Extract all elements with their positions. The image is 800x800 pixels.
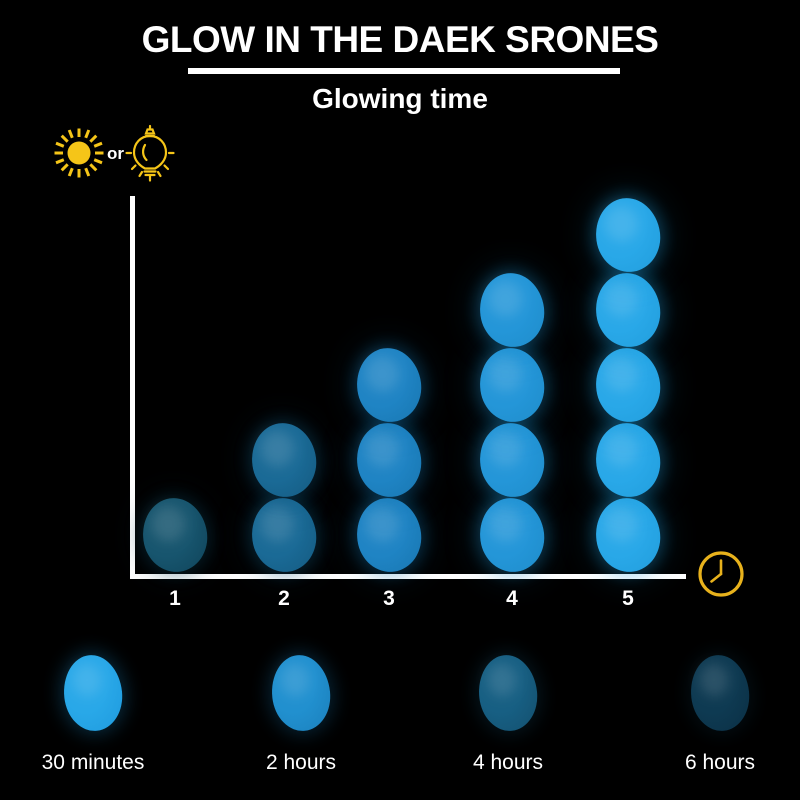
y-axis-line [130, 196, 135, 578]
legend-stone-swatch [687, 652, 753, 734]
legend-stone-swatch [475, 652, 541, 734]
glow-stone [475, 344, 549, 426]
glow-stone [591, 269, 665, 351]
x-tick-label-4: 4 [492, 586, 532, 612]
glow-stone [475, 494, 549, 576]
legend-stone-swatch [268, 652, 334, 734]
glow-stone [591, 344, 665, 426]
glow-stone [352, 494, 426, 576]
glow-stone [138, 494, 212, 576]
legend-stone-swatch [60, 652, 126, 734]
glow-stone [475, 419, 549, 501]
infographic-canvas: GLOW IN THE DAEK SRONES Glowing time [0, 0, 800, 800]
legend-item: 2 hours [201, 655, 401, 795]
legend-label: 30 minutes [0, 750, 193, 776]
clock-icon [695, 548, 747, 600]
legend-label: 2 hours [201, 750, 401, 776]
page-title: GLOW IN THE DAEK SRONES [0, 18, 800, 62]
legend-label: 4 hours [408, 750, 608, 776]
glow-stone [352, 344, 426, 426]
legend-item: 30 minutes [0, 655, 193, 795]
legend-item: 4 hours [408, 655, 608, 795]
x-tick-label-1: 1 [155, 586, 195, 612]
x-tick-label-2: 2 [264, 586, 304, 612]
light-bulb-icon [125, 124, 175, 182]
light-source-group: or [52, 122, 207, 184]
x-axis-line [130, 574, 686, 579]
sun-icon [52, 126, 106, 180]
title-divider [188, 68, 620, 74]
x-tick-label-5: 5 [608, 586, 648, 612]
legend-label: 6 hours [620, 750, 800, 776]
legend-item: 6 hours [620, 655, 800, 795]
glow-stone [247, 419, 321, 501]
glow-stone [247, 494, 321, 576]
glow-stone [352, 419, 426, 501]
glow-stone [475, 269, 549, 351]
glow-stone [591, 419, 665, 501]
glow-stone [591, 494, 665, 576]
glow-stone [591, 194, 665, 276]
x-tick-label-3: 3 [369, 586, 409, 612]
page-subtitle: Glowing time [0, 82, 800, 116]
or-label: or [107, 145, 124, 162]
